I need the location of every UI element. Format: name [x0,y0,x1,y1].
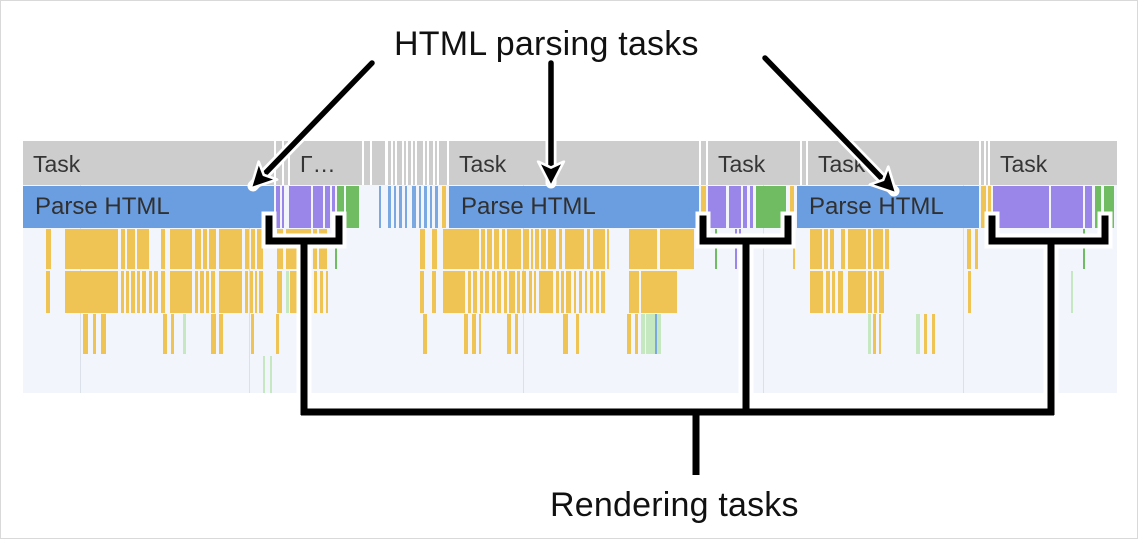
flame-bar[interactable] [868,271,872,313]
flame-bar[interactable] [251,314,254,354]
flame-bar[interactable] [131,271,135,313]
flame-bar[interactable] [161,271,165,313]
flame-bar[interactable] [93,314,96,354]
flame-bar[interactable] [121,271,124,313]
task-block-small[interactable] [425,141,427,185]
flame-bar[interactable] [576,314,579,354]
flame-bar[interactable] [715,229,717,269]
flame-bar[interactable] [824,229,828,269]
flame-bar[interactable] [574,271,576,313]
event-block-loading[interactable] [399,186,402,228]
flame-bar[interactable] [826,271,830,313]
task-block-small[interactable] [276,141,282,185]
task-block-small[interactable] [284,141,288,185]
task-block-small[interactable] [388,141,391,185]
flame-bar[interactable] [579,271,582,313]
event-block-painting[interactable] [1095,186,1101,228]
flame-bar[interactable] [423,314,427,354]
flame-bar[interactable] [46,229,51,269]
flame-bar[interactable] [245,229,249,269]
task-block[interactable]: Task [23,141,274,185]
task-block[interactable]: Task [449,141,699,185]
flame-bar[interactable] [313,229,317,269]
flame-bar[interactable] [101,314,106,354]
flame-bar[interactable] [830,229,834,269]
flame-bar[interactable] [494,229,499,269]
main-thread-event-band[interactable]: Parse HTMLParse HTMLParse HTML [23,186,1117,228]
flame-bar[interactable] [219,271,242,313]
flame-bar[interactable] [660,229,694,269]
event-block-rendering[interactable] [313,186,323,228]
flame-bar[interactable] [209,229,216,269]
flame-bar[interactable] [607,229,609,269]
flame-bar[interactable] [121,229,125,269]
bracket-bottom-rail [301,412,1054,475]
event-block-scripting[interactable] [981,186,986,228]
flame-bar[interactable] [810,229,822,269]
flame-bar[interactable] [548,229,556,269]
task-block-small[interactable] [986,141,988,185]
task-block-small[interactable] [404,141,406,185]
task-block-label: Task [1000,151,1047,177]
task-block-small[interactable] [981,141,984,185]
flame-bar[interactable] [873,229,883,269]
flame-bar[interactable] [975,229,978,269]
flame-bar[interactable] [539,271,553,313]
flame-bar[interactable] [838,271,843,313]
flame-bar[interactable] [195,271,198,313]
task-block-small[interactable] [372,141,385,185]
flame-bar[interactable] [627,314,631,354]
html-parsing-tasks-label: HTML parsing tasks [394,24,699,64]
task-block-small[interactable] [393,141,395,185]
task-ruler-row[interactable]: TaskΓ…TaskTaskTaskTask [23,141,1117,185]
flame-bar[interactable] [641,314,645,354]
event-block-rendering[interactable] [325,186,330,228]
flame-bar[interactable] [641,271,677,313]
flame-bar[interactable] [793,229,795,269]
flame-bar[interactable] [170,229,192,269]
event-block-rendering[interactable] [1085,186,1092,228]
flame-bar[interactable] [932,314,935,354]
event-block-rendering[interactable] [708,186,726,228]
flame-bar[interactable] [137,271,140,313]
flame-bar[interactable] [127,229,135,269]
flame-bar[interactable] [601,271,605,313]
parse-html-label: Parse HTML [461,193,596,221]
flame-bar[interactable] [286,229,311,269]
flame-bar[interactable] [183,314,186,354]
flame-bar[interactable] [211,314,216,354]
event-block-loading[interactable] [412,186,416,228]
flame-bar[interactable] [596,271,599,313]
event-block-rendering[interactable] [750,186,753,228]
flame-bar[interactable] [848,229,866,269]
flame-bar[interactable] [565,229,584,269]
event-block-painting[interactable] [756,186,786,228]
flame-bar[interactable] [126,271,129,313]
task-block-small[interactable] [364,141,370,185]
flame-bar[interactable] [290,271,311,313]
flame-bar[interactable] [420,271,424,313]
event-block-scripting[interactable] [442,186,446,228]
task-block[interactable]: Γ… [290,141,362,185]
task-block-small[interactable] [413,141,415,185]
event-block-rendering[interactable] [289,186,311,228]
task-block[interactable]: Task [990,141,1117,185]
task-block[interactable]: Task [708,141,800,185]
flame-bar[interactable] [585,271,587,313]
flame-bar[interactable] [968,271,971,313]
flame-bar[interactable] [967,229,971,269]
flame-bar[interactable] [219,314,223,354]
flame-bar[interactable] [163,314,167,354]
task-block-label: Task [459,151,506,177]
event-block-scripting[interactable] [988,186,991,228]
event-block-loading[interactable] [430,186,432,228]
flame-bar[interactable] [203,229,207,269]
flame-bar[interactable] [251,229,255,269]
flame-bar[interactable] [566,271,571,313]
parse-html-label: Parse HTML [35,193,170,221]
flame-bar[interactable] [559,229,562,269]
flame-bar[interactable] [739,229,741,269]
flame-bar[interactable] [593,229,605,269]
event-block-rendering[interactable] [1051,186,1083,228]
task-block-small[interactable] [397,141,402,185]
event-block-loading[interactable] [379,186,381,228]
flame-bar[interactable] [46,271,50,313]
event-block-painting[interactable] [1104,186,1114,228]
flame-bar[interactable] [245,271,248,313]
task-block-label: Task [818,151,865,177]
flame-bar[interactable] [170,271,192,313]
event-block-painting[interactable] [346,186,359,228]
task-block-label: Task [718,151,765,177]
flame-bar[interactable] [161,229,165,269]
flame-bar[interactable] [916,314,920,354]
flame-bar[interactable] [841,229,845,269]
flame-bar[interactable] [497,271,501,313]
flame-bar[interactable] [735,229,737,269]
flame-bar[interactable] [335,229,337,269]
flame-bar[interactable] [487,229,492,269]
flame-bar[interactable] [879,314,881,354]
task-block[interactable]: Task [808,141,979,185]
task-block-small[interactable] [429,141,433,185]
flame-bar[interactable] [529,271,532,313]
flame-bar[interactable] [219,229,242,269]
flame-bar[interactable] [563,314,568,354]
performance-flame-chart[interactable]: TaskΓ…TaskTaskTaskTask Parse HTMLParse H… [23,141,1117,393]
flame-bar[interactable] [473,271,477,313]
task-block-small[interactable] [435,141,437,185]
event-block-rendering[interactable] [332,186,335,228]
flame-bar[interactable] [541,229,546,269]
flame-bar[interactable] [326,271,328,313]
flame-bar[interactable] [472,314,476,354]
flame-bar[interactable] [259,271,263,313]
flame-bar[interactable] [868,229,871,269]
flame-bar[interactable] [481,229,485,269]
flame-bar[interactable] [270,356,272,393]
task-block-label: Γ… [300,151,336,177]
event-block-rendering[interactable] [993,186,1049,228]
flame-bar[interactable] [587,229,590,269]
flame-bar[interactable] [523,229,529,269]
event-block-scripting[interactable] [790,186,794,228]
event-block-rendering[interactable] [729,186,741,228]
flame-bar[interactable] [507,229,521,269]
event-block-loading[interactable] [388,186,391,228]
flame-bar[interactable] [535,229,539,269]
flame-bar[interactable] [137,229,149,269]
flame-bar[interactable] [590,271,593,313]
flame-bar[interactable] [492,271,495,313]
flame-bar[interactable] [443,229,479,269]
event-block-parse-html[interactable]: Parse HTML [23,186,274,228]
flame-bar[interactable] [464,314,468,354]
flame-bar[interactable] [320,271,323,313]
flame-bar[interactable] [502,229,505,269]
flame-bar[interactable] [276,314,279,354]
flame-bar[interactable] [879,271,884,313]
flame-bar[interactable] [534,271,536,313]
flame-bar[interactable] [286,271,289,313]
flame-bar[interactable] [629,271,639,313]
rendering-tasks-label: Rendering tasks [550,485,799,525]
flame-bar[interactable] [507,314,511,354]
flame-bar[interactable] [1071,271,1073,313]
task-block-small[interactable] [439,141,447,185]
flame-bar[interactable] [479,314,481,354]
flame-bar[interactable] [868,314,871,354]
flame-bar[interactable] [885,229,889,269]
screenshot-frame: HTML parsing tasks Rendering tasks TaskΓ… [0,0,1138,539]
task-block-small[interactable] [408,141,411,185]
flame-bar[interactable] [832,271,835,313]
flame-bar[interactable] [83,314,88,354]
flame-bar[interactable] [504,271,507,313]
flame-bar[interactable] [257,229,263,269]
flame-bar[interactable] [154,271,158,313]
flame-bar[interactable] [314,271,317,313]
flame-bar[interactable] [561,271,564,313]
flame-bar[interactable] [171,314,174,354]
event-block-rendering[interactable] [276,186,280,228]
flame-bar[interactable] [432,271,436,313]
flame-bar[interactable] [655,314,657,354]
event-block-loading[interactable] [405,186,407,228]
event-block-painting[interactable] [337,186,344,228]
flame-bar[interactable] [65,271,118,313]
event-block-scripting[interactable] [701,186,706,228]
event-block-loading[interactable] [435,186,438,228]
flame-bar[interactable] [480,271,483,313]
flame-bar[interactable] [206,271,209,313]
flame-bar[interactable] [556,271,559,313]
flame-bar[interactable] [250,271,253,313]
flame-bar[interactable] [149,271,152,313]
flame-bar[interactable] [65,229,118,269]
flame-bar[interactable] [468,271,471,313]
event-block-rendering[interactable] [282,186,284,228]
flame-bar[interactable] [874,271,877,313]
flame-bar[interactable] [432,229,437,269]
event-block-loading[interactable] [419,186,421,228]
flame-bar[interactable] [924,314,927,354]
task-block-small[interactable] [802,141,806,185]
flame-bar[interactable] [1083,229,1085,269]
flame-bar[interactable] [277,271,282,313]
flame-bar[interactable] [255,271,257,313]
flame-bar[interactable] [522,271,526,313]
flame-bar[interactable] [211,271,215,313]
task-block-small[interactable] [701,141,706,185]
event-block-loading[interactable] [394,186,396,228]
flame-bar[interactable] [420,229,425,269]
parse-html-label: Parse HTML [809,193,944,221]
flame-bar[interactable] [142,271,146,313]
task-block-label: Task [33,151,80,177]
task-block-small[interactable] [417,141,423,185]
flame-bar[interactable] [443,271,465,313]
event-block-parse-html[interactable]: Parse HTML [797,186,979,228]
event-block-parse-html[interactable]: Parse HTML [449,186,699,228]
flame-bar[interactable] [629,229,657,269]
flame-bar[interactable] [509,271,515,313]
flame-bar[interactable] [873,314,876,354]
flame-bar[interactable] [646,314,661,354]
flame-bar[interactable] [848,271,866,313]
flame-bar[interactable] [200,271,204,313]
flame-bar[interactable] [515,314,518,354]
flame-bar[interactable] [810,271,823,313]
event-block-loading[interactable] [424,186,427,228]
flame-bar[interactable] [635,314,638,354]
event-block-rendering[interactable] [743,186,747,228]
flame-bar[interactable] [263,356,265,393]
flame-bar[interactable] [517,271,520,313]
flame-bar[interactable] [531,229,533,269]
flame-bar[interactable] [319,229,327,269]
flame-bar[interactable] [277,229,283,269]
flame-bar[interactable] [485,271,489,313]
flame-bar[interactable] [195,229,201,269]
